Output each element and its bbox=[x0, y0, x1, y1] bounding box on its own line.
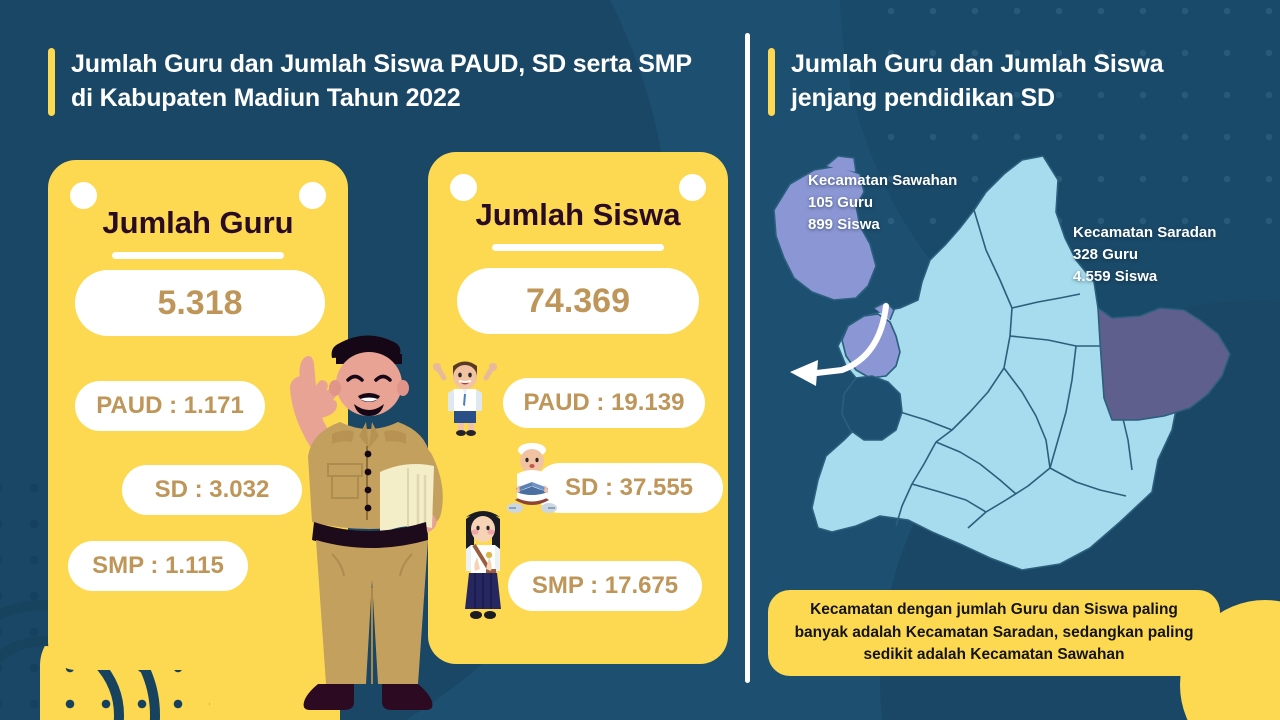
card-siswa-total-value: 74.369 bbox=[457, 268, 699, 334]
map-label-saradan-district: Kecamatan Saradan bbox=[1073, 222, 1216, 244]
title-accent-bar bbox=[768, 48, 775, 116]
map-label-saradan: Kecamatan Saradan 328 Guru 4.559 Siswa bbox=[1073, 222, 1216, 287]
card-siswa-item-smp: SMP : 17.675 bbox=[508, 561, 702, 611]
title-accent-bar bbox=[48, 48, 55, 116]
card-siswa-item-paud: PAUD : 19.139 bbox=[503, 378, 705, 428]
panel-divider bbox=[745, 33, 750, 683]
summary-note-text: Kecamatan dengan jumlah Guru dan Siswa p… bbox=[782, 599, 1206, 666]
left-panel-title-text: Jumlah Guru dan Jumlah Siswa PAUD, SD se… bbox=[71, 48, 708, 116]
summary-note: Kecamatan dengan jumlah Guru dan Siswa p… bbox=[768, 590, 1220, 676]
card-siswa-underline bbox=[492, 244, 664, 251]
left-panel-title: Jumlah Guru dan Jumlah Siswa PAUD, SD se… bbox=[48, 48, 708, 116]
map-label-sawahan: Kecamatan Sawahan 105 Guru 899 Siswa bbox=[808, 170, 957, 235]
teacher-illustration bbox=[262, 296, 472, 720]
map-label-sawahan-district: Kecamatan Sawahan bbox=[808, 170, 957, 192]
map-label-sawahan-teachers: 105 Guru bbox=[808, 192, 957, 214]
card-guru-underline bbox=[112, 252, 284, 259]
map-label-saradan-teachers: 328 Guru bbox=[1073, 244, 1216, 266]
card-guru-title: Jumlah Guru bbox=[48, 205, 348, 241]
card-guru-item-paud: PAUD : 1.171 bbox=[75, 381, 265, 431]
card-siswa-title: Jumlah Siswa bbox=[428, 197, 728, 233]
right-panel-title-text: Jumlah Guru dan Jumlah Siswa jenjang pen… bbox=[791, 48, 1218, 116]
infographic-canvas: Jumlah Guru dan Jumlah Siswa PAUD, SD se… bbox=[0, 0, 1280, 720]
right-panel-title: Jumlah Guru dan Jumlah Siswa jenjang pen… bbox=[768, 48, 1218, 116]
map-label-saradan-students: 4.559 Siswa bbox=[1073, 266, 1216, 288]
map-label-sawahan-students: 899 Siswa bbox=[808, 214, 957, 236]
card-guru-item-smp: SMP : 1.115 bbox=[68, 541, 248, 591]
